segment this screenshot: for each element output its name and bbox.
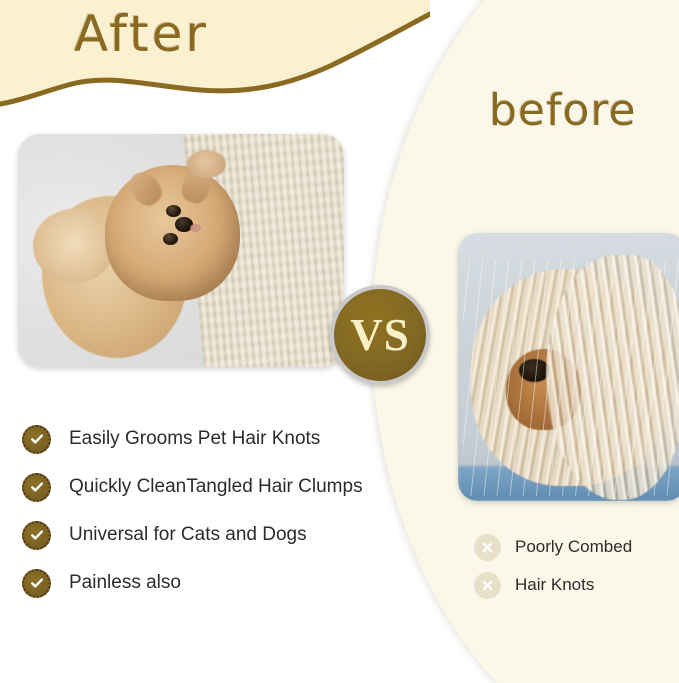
check-icon [22,521,51,550]
comparison-poster: After before [0,0,679,683]
dog-head [105,165,240,301]
loose-hair-strands [463,260,679,496]
before-title: before [489,85,637,136]
problems-list: Poorly Combed Hair Knots [474,528,674,604]
x-icon [474,572,501,599]
x-icon [474,534,501,561]
list-item: Poorly Combed [474,528,674,566]
benefit-label: Universal for Cats and Dogs [69,524,307,546]
benefit-label: Easily Grooms Pet Hair Knots [69,428,320,450]
list-item: Quickly CleanTangled Hair Clumps [22,463,382,511]
benefit-label: Painless also [69,572,181,594]
list-item: Easily Grooms Pet Hair Knots [22,415,382,463]
after-banner [0,0,430,122]
vs-badge: VS [330,285,430,385]
after-title: After [74,5,209,63]
before-photo [458,233,679,501]
vs-badge-label: VS [350,313,410,358]
after-photo [18,134,344,367]
list-item: Painless also [22,559,382,607]
dog-eye-right [163,233,178,245]
problem-label: Hair Knots [515,575,594,595]
check-icon [22,425,51,454]
check-icon [22,569,51,598]
check-icon [22,473,51,502]
groomed-dog [38,143,279,362]
benefit-label: Quickly CleanTangled Hair Clumps [69,476,363,498]
dog-eye-left [166,205,181,217]
dog-fur-tuft [33,209,115,283]
ungroomed-dog [463,260,679,496]
list-item: Hair Knots [474,566,674,604]
dog-paw [187,150,226,178]
benefits-list: Easily Grooms Pet Hair Knots Quickly Cle… [22,415,382,607]
dog-ear-left [124,166,167,210]
problem-label: Poorly Combed [515,537,632,557]
list-item: Universal for Cats and Dogs [22,511,382,559]
dog-tongue [190,224,201,232]
